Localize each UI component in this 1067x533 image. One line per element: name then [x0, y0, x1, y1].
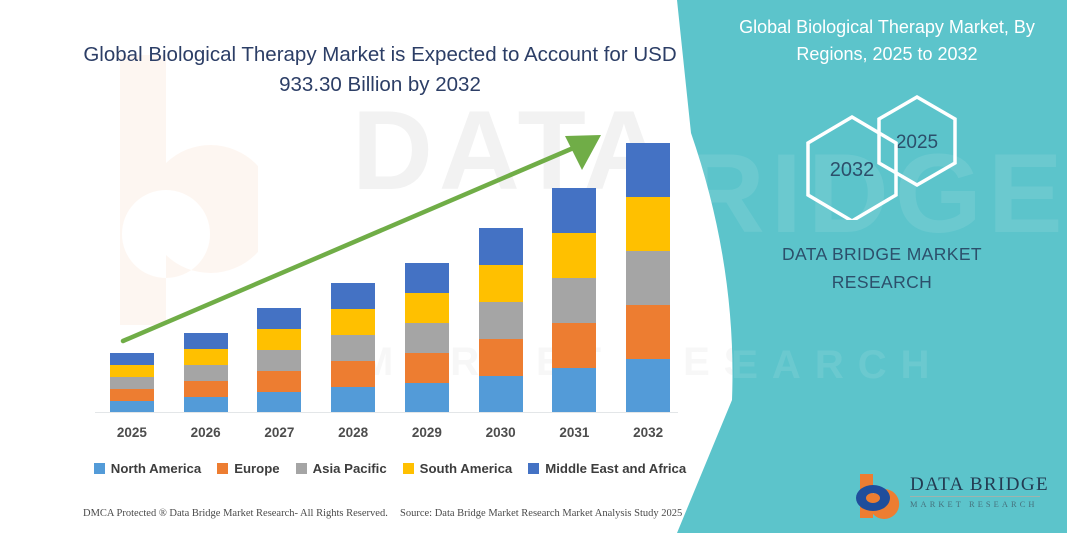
bar-segment [257, 308, 301, 329]
footer: DMCA Protected ® Data Bridge Market Rese… [0, 505, 760, 529]
bar-segment [552, 368, 596, 413]
bar-segment [479, 339, 523, 376]
legend-item[interactable]: Middle East and Africa [528, 461, 686, 476]
bar-stack [257, 308, 301, 413]
chart-legend: North AmericaEuropeAsia PacificSouth Ame… [95, 458, 685, 478]
bar-segment [257, 392, 301, 413]
bar-segment [479, 302, 523, 339]
hexagon-2032-label: 2032 [830, 159, 875, 181]
bar-segment [479, 265, 523, 302]
bar-stack [331, 283, 375, 413]
company-logo: DATA BRIDGE MARKET RESEARCH [852, 468, 1042, 524]
bar-segment [405, 383, 449, 413]
bar-segment [110, 365, 154, 377]
legend-label: North America [111, 461, 201, 476]
legend-label: Europe [234, 461, 279, 476]
hexagon-badges: 2025 2032 [797, 95, 997, 220]
bar-segment [184, 333, 228, 349]
bar-stack [552, 188, 596, 413]
legend-item[interactable]: North America [94, 461, 201, 476]
bar-segment [626, 197, 670, 251]
legend-swatch [403, 463, 414, 474]
bar-segment [331, 387, 375, 413]
bar-segment [552, 233, 596, 278]
bar-segment [184, 397, 228, 413]
bar-segment [331, 309, 375, 335]
bar-segment [184, 349, 228, 365]
x-axis-tick-labels: 20252026202720282029203020312032 [95, 425, 685, 445]
bar-segment [405, 293, 449, 323]
bar-segment [110, 389, 154, 401]
x-tick-label: 2031 [544, 425, 604, 440]
bar-segment [626, 251, 670, 305]
infographic-root: DATA BRIDGE MARKET RESEARCH Global Biolo… [0, 0, 1067, 533]
bar-segment [479, 376, 523, 413]
bar-segment [405, 353, 449, 383]
x-tick-label: 2027 [249, 425, 309, 440]
bar-segment [110, 353, 154, 365]
legend-swatch [296, 463, 307, 474]
logo-mark-icon [852, 472, 908, 520]
x-tick-label: 2029 [397, 425, 457, 440]
bar-stack [110, 353, 154, 413]
bar-segment [626, 359, 670, 413]
panel-title: Global Biological Therapy Market, By Reg… [722, 14, 1052, 68]
legend-item[interactable]: Asia Pacific [296, 461, 387, 476]
brand-panel-content: Global Biological Therapy Market, By Reg… [677, 0, 1067, 533]
logo-sub-text: MARKET RESEARCH [910, 499, 1042, 510]
bar-segment [479, 228, 523, 265]
x-tick-label: 2028 [323, 425, 383, 440]
bar-segment [257, 350, 301, 371]
logo-main-text: DATA BRIDGE [910, 474, 1042, 495]
bar-segment [405, 263, 449, 293]
legend-swatch [528, 463, 539, 474]
bar-stack [405, 263, 449, 413]
hexagon-2025-label: 2025 [896, 132, 938, 153]
bar-segment [331, 335, 375, 361]
bar-segment [626, 143, 670, 197]
logo-divider [910, 496, 1040, 497]
bar-stack [184, 333, 228, 413]
bar-segment [331, 283, 375, 309]
x-axis-line [95, 412, 678, 413]
chart-title: Global Biological Therapy Market is Expe… [70, 40, 690, 100]
bar-segment [626, 305, 670, 359]
plot-area [95, 120, 685, 413]
legend-label: Asia Pacific [313, 461, 387, 476]
bar-segment [184, 381, 228, 397]
bar-stack [479, 228, 523, 413]
x-tick-label: 2030 [471, 425, 531, 440]
bar-segment [184, 365, 228, 381]
bar-segment [257, 371, 301, 392]
bar-segment [552, 323, 596, 368]
logo-text: DATA BRIDGE MARKET RESEARCH [910, 474, 1042, 510]
bar-segment [552, 278, 596, 323]
legend-swatch [217, 463, 228, 474]
legend-swatch [94, 463, 105, 474]
legend-label: South America [420, 461, 513, 476]
footer-copyright: DMCA Protected ® Data Bridge Market Rese… [83, 508, 388, 519]
brand-name: DATA BRIDGE MARKET RESEARCH [737, 240, 1027, 296]
legend-label: Middle East and Africa [545, 461, 686, 476]
footer-source: Source: Data Bridge Market Research Mark… [400, 508, 682, 519]
x-tick-label: 2026 [176, 425, 236, 440]
bar-segment [552, 188, 596, 233]
legend-item[interactable]: South America [403, 461, 513, 476]
bar-segment [405, 323, 449, 353]
bar-segment [257, 329, 301, 350]
bar-segment [331, 361, 375, 387]
brand-panel: BRIDGE RESEARCH Global Biological Therap… [677, 0, 1067, 533]
brand-line-2: RESEARCH [737, 268, 1027, 296]
bar-series-container [95, 120, 685, 413]
brand-line-1: DATA BRIDGE MARKET [737, 240, 1027, 268]
x-tick-label: 2025 [102, 425, 162, 440]
chart-panel: DATA BRIDGE MARKET RESEARCH Global Biolo… [0, 0, 760, 533]
bar-segment [110, 377, 154, 389]
x-tick-label: 2032 [618, 425, 678, 440]
legend-item[interactable]: Europe [217, 461, 279, 476]
bar-stack [626, 143, 670, 413]
